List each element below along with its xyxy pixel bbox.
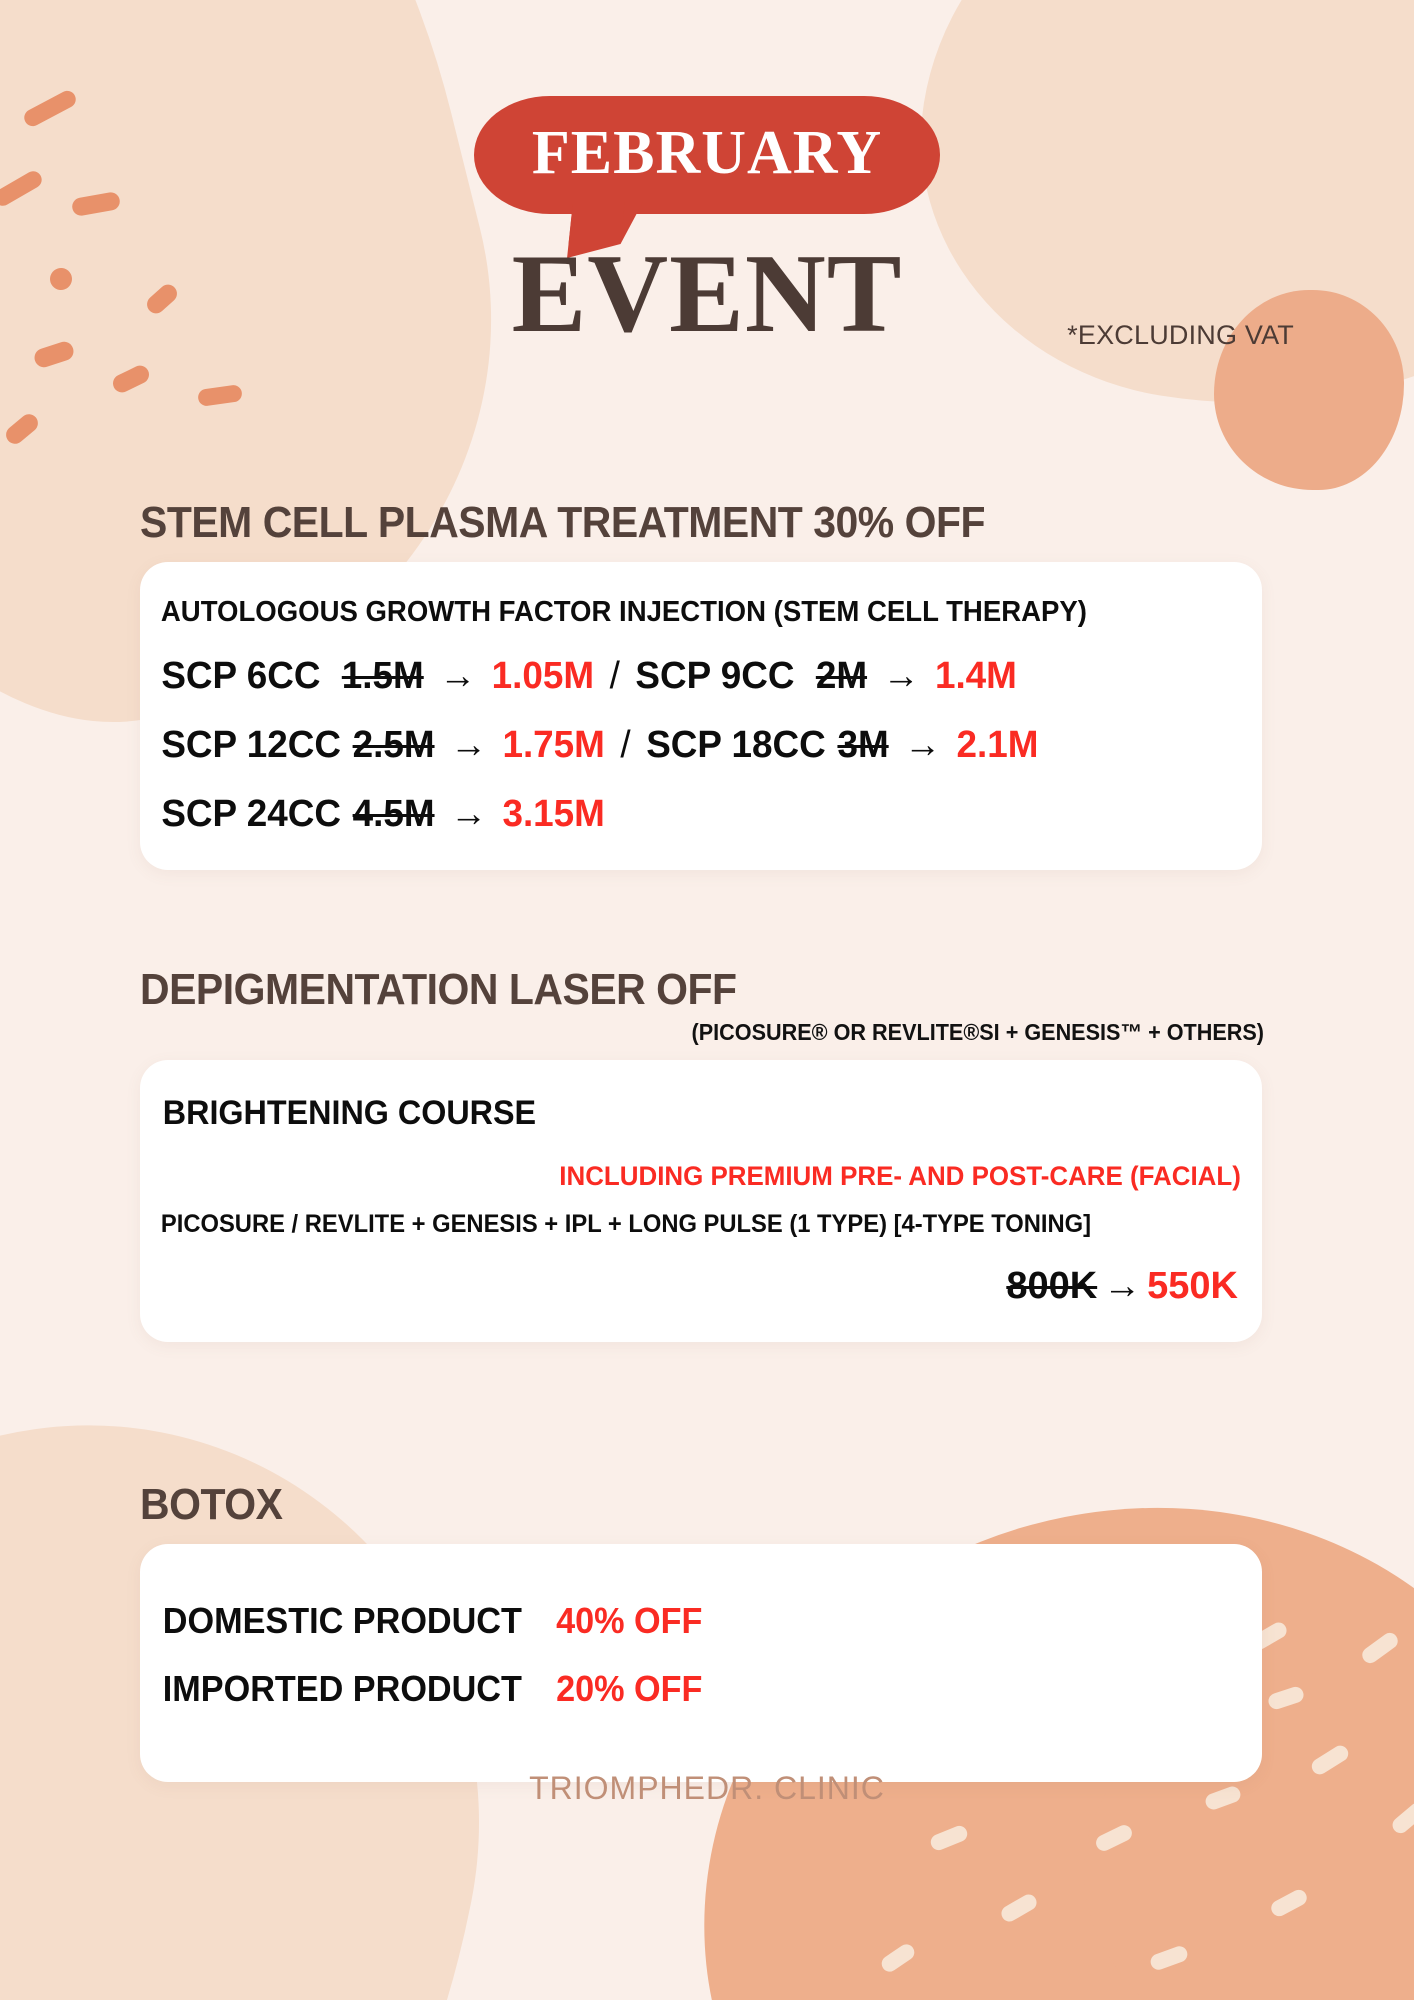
new-price: 2.1M: [957, 724, 1039, 766]
treatment-name: SCP 18CC: [646, 724, 826, 766]
price-row: SCP 6CC1.5M→1.05M/SCP 9CC2M→1.4M: [140, 655, 1228, 698]
section-botox: BOTOX DOMESTIC PRODUCT40% OFF IMPORTED P…: [0, 1480, 1414, 1782]
section-title-depigmentation: DEPIGMENTATION LASER OFF: [140, 965, 1325, 1015]
treatment-name: SCP 12CC: [161, 724, 341, 766]
section-subtitle-depigmentation: (PICOSURE® OR REVLITE®SI + GENESIS™ + OT…: [76, 1019, 1264, 1046]
clinic-brand: TRIOMPHEDR. CLINIC: [0, 1770, 1414, 1807]
arrow-icon: →: [1097, 1265, 1147, 1307]
old-price: 4.5M: [353, 793, 435, 835]
month-label: FEBRUARY: [532, 122, 882, 184]
course-detail: PICOSURE / REVLITE + GENESIS + IPL + LON…: [140, 1210, 1206, 1239]
product-label: DOMESTIC PRODUCT: [163, 1600, 522, 1641]
row-separator: /: [594, 655, 635, 697]
price-row: SCP 12CC2.5M→1.75M/SCP 18CC3M→2.1M: [140, 724, 1228, 767]
botox-row: IMPORTED PRODUCT20% OFF: [140, 1668, 1206, 1710]
treatment-name: SCP 24CC: [161, 793, 341, 835]
vat-disclaimer: *EXCLUDING VAT: [1067, 320, 1294, 351]
card-depigmentation: BRIGHTENING COURSE INCLUDING PREMIUM PRE…: [140, 1060, 1262, 1342]
arrow-icon: →: [900, 724, 945, 766]
treatment-name: SCP 6CC: [161, 655, 320, 697]
discount-value: 20% OFF: [522, 1668, 703, 1709]
card-stem-cell: AUTOLOGOUS GROWTH FACTOR INJECTION (STEM…: [140, 562, 1262, 870]
botox-row: DOMESTIC PRODUCT40% OFF: [140, 1600, 1206, 1642]
new-price: 1.75M: [502, 724, 604, 766]
price-row: SCP 24CC4.5M→3.15M: [140, 793, 1228, 836]
card-heading-stem-cell: AUTOLOGOUS GROWTH FACTOR INJECTION (STEM…: [140, 596, 1206, 629]
old-price: 3M: [837, 724, 888, 766]
arrow-icon: →: [879, 655, 924, 697]
month-badge: FEBRUARY: [0, 96, 1414, 214]
new-price: 3.15M: [502, 793, 604, 835]
section-depigmentation: DEPIGMENTATION LASER OFF (PICOSURE® OR R…: [0, 965, 1414, 1342]
new-price: 1.4M: [935, 655, 1017, 697]
row-separator: /: [605, 724, 646, 766]
old-price: 2.5M: [353, 724, 435, 766]
arrow-icon: →: [446, 724, 491, 766]
course-included-note: INCLUDING PREMIUM PRE- AND POST-CARE (FA…: [185, 1161, 1262, 1192]
old-price: 2M: [816, 655, 867, 697]
course-price-row: 800K→550K: [140, 1265, 1262, 1308]
card-botox: DOMESTIC PRODUCT40% OFF IMPORTED PRODUCT…: [140, 1544, 1262, 1782]
poster-canvas: FEBRUARY EVENT *EXCLUDING VAT STEM CELL …: [0, 0, 1414, 2000]
new-price: 550K: [1147, 1265, 1238, 1307]
discount-value: 40% OFF: [522, 1600, 703, 1641]
arrow-icon: →: [435, 655, 480, 697]
old-price: 1.5M: [342, 655, 424, 697]
old-price: 800K: [1006, 1265, 1097, 1307]
new-price: 1.05M: [492, 655, 594, 697]
section-title-stem-cell: STEM CELL PLASMA TREATMENT 30% OFF: [140, 498, 1325, 548]
arrow-icon: →: [446, 793, 491, 835]
section-title-botox: BOTOX: [140, 1480, 1325, 1530]
treatment-name: SCP 9CC: [635, 655, 794, 697]
product-label: IMPORTED PRODUCT: [163, 1668, 522, 1709]
course-name: BRIGHTENING COURSE: [140, 1094, 1206, 1133]
section-stem-cell: STEM CELL PLASMA TREATMENT 30% OFF AUTOL…: [0, 498, 1414, 870]
speech-bubble: FEBRUARY: [474, 96, 940, 214]
